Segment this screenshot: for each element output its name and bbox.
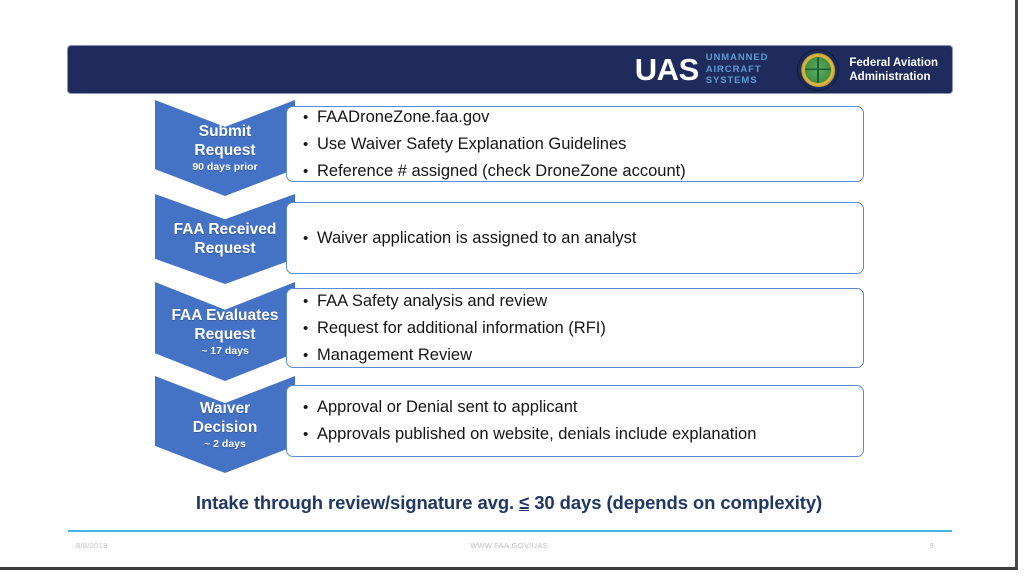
brand-block: UAS UNMANNED AIRCRAFT SYSTEMS Federal Av… [635,46,952,93]
bullet-text: Waiver application is assigned to an ana… [317,229,636,247]
step-title-line-1: Waiver [193,399,258,418]
uas-subtitle-line-3: SYSTEMS [706,75,769,87]
bullet-item: •Reference # assigned (check DroneZone a… [303,158,863,185]
bullet-item: •FAADroneZone.faa.gov [303,104,863,131]
bullet-text: FAADroneZone.faa.gov [317,108,489,126]
step-bullet-box: •Approval or Denial sent to applicant •A… [286,385,864,457]
slide-canvas: UAS UNMANNED AIRCRAFT SYSTEMS Federal Av… [0,0,1018,570]
agency-name: Federal Aviation Administration [849,56,938,84]
bullet-item: •Approval or Denial sent to applicant [303,394,863,421]
bullet-text: Management Review [317,346,472,364]
step-title-line-2: Decision [193,418,258,437]
step-title: FAA Received Request [174,220,277,258]
bullet-item: •Management Review [303,342,863,369]
step-chevron: FAA Received Request [155,194,295,284]
header-bar: UAS UNMANNED AIRCRAFT SYSTEMS Federal Av… [68,46,952,93]
step-chevron: FAA Evaluates Request ~ 17 days [155,282,295,381]
uas-subtitle: UNMANNED AIRCRAFT SYSTEMS [706,52,769,87]
bullet-text: Approval or Denial sent to applicant [317,398,578,416]
bullet-dot-icon: • [303,159,317,185]
bullet-item: •FAA Safety analysis and review [303,288,863,315]
step-bullet-box: •FAADroneZone.faa.gov •Use Waiver Safety… [286,106,864,182]
bullet-dot-icon: • [303,316,317,342]
less-than-equal-symbol: ≤ [519,492,529,513]
bullet-dot-icon: • [303,289,317,315]
bullet-text: Request for additional information (RFI) [317,319,606,337]
bullet-text: FAA Safety analysis and review [317,292,547,310]
bullet-item: •Approvals published on website, denials… [303,421,863,448]
bullet-dot-icon: • [303,422,317,448]
summary-prefix: Intake through review/signature avg. [196,492,519,513]
bullet-dot-icon: • [303,132,317,158]
step-bullet-box: •FAA Safety analysis and review •Request… [286,288,864,368]
summary-line: Intake through review/signature avg. ≤ 3… [0,492,1018,514]
uas-subtitle-line-2: AIRCRAFT [706,64,769,76]
step-subtitle: ~ 2 days [204,438,246,451]
uas-acronym: UAS [635,54,699,85]
step-subtitle: ~ 17 days [201,345,249,358]
agency-name-line-1: Federal Aviation [849,56,938,70]
agency-name-line-2: Administration [849,70,938,84]
step-title: Waiver Decision [193,399,258,437]
bullet-dot-icon: • [303,343,317,369]
step-title-line-2: Request [171,325,278,344]
step-title-line-2: Request [174,239,277,258]
bullet-item: •Use Waiver Safety Explanation Guideline… [303,131,863,158]
bullet-dot-icon: • [303,105,317,131]
step-title-line-1: Submit [194,122,255,141]
faa-seal-icon [798,50,838,90]
step-chevron: Waiver Decision ~ 2 days [155,376,295,473]
uas-subtitle-line-1: UNMANNED [706,52,769,64]
step-subtitle: 90 days prior [192,161,257,174]
summary-suffix: 30 days (depends on complexity) [529,492,822,513]
footer-divider [68,530,952,532]
bullet-dot-icon: • [303,395,317,421]
step-bullet-box: •Waiver application is assigned to an an… [286,202,864,274]
step-title-line-2: Request [194,141,255,160]
bullet-text: Approvals published on website, denials … [317,425,756,443]
step-title-line-1: FAA Evaluates [171,306,278,325]
bullet-item: •Waiver application is assigned to an an… [303,225,863,252]
step-title: Submit Request [194,122,255,160]
bullet-text: Reference # assigned (check DroneZone ac… [317,162,686,180]
step-chevron: Submit Request 90 days prior [155,100,295,196]
bullet-text: Use Waiver Safety Explanation Guidelines [317,135,626,153]
bullet-dot-icon: • [303,226,317,252]
step-title: FAA Evaluates Request [171,306,278,344]
bullet-item: •Request for additional information (RFI… [303,315,863,342]
footer-page-number: 9 [0,541,1018,550]
step-title-line-1: FAA Received [174,220,277,239]
